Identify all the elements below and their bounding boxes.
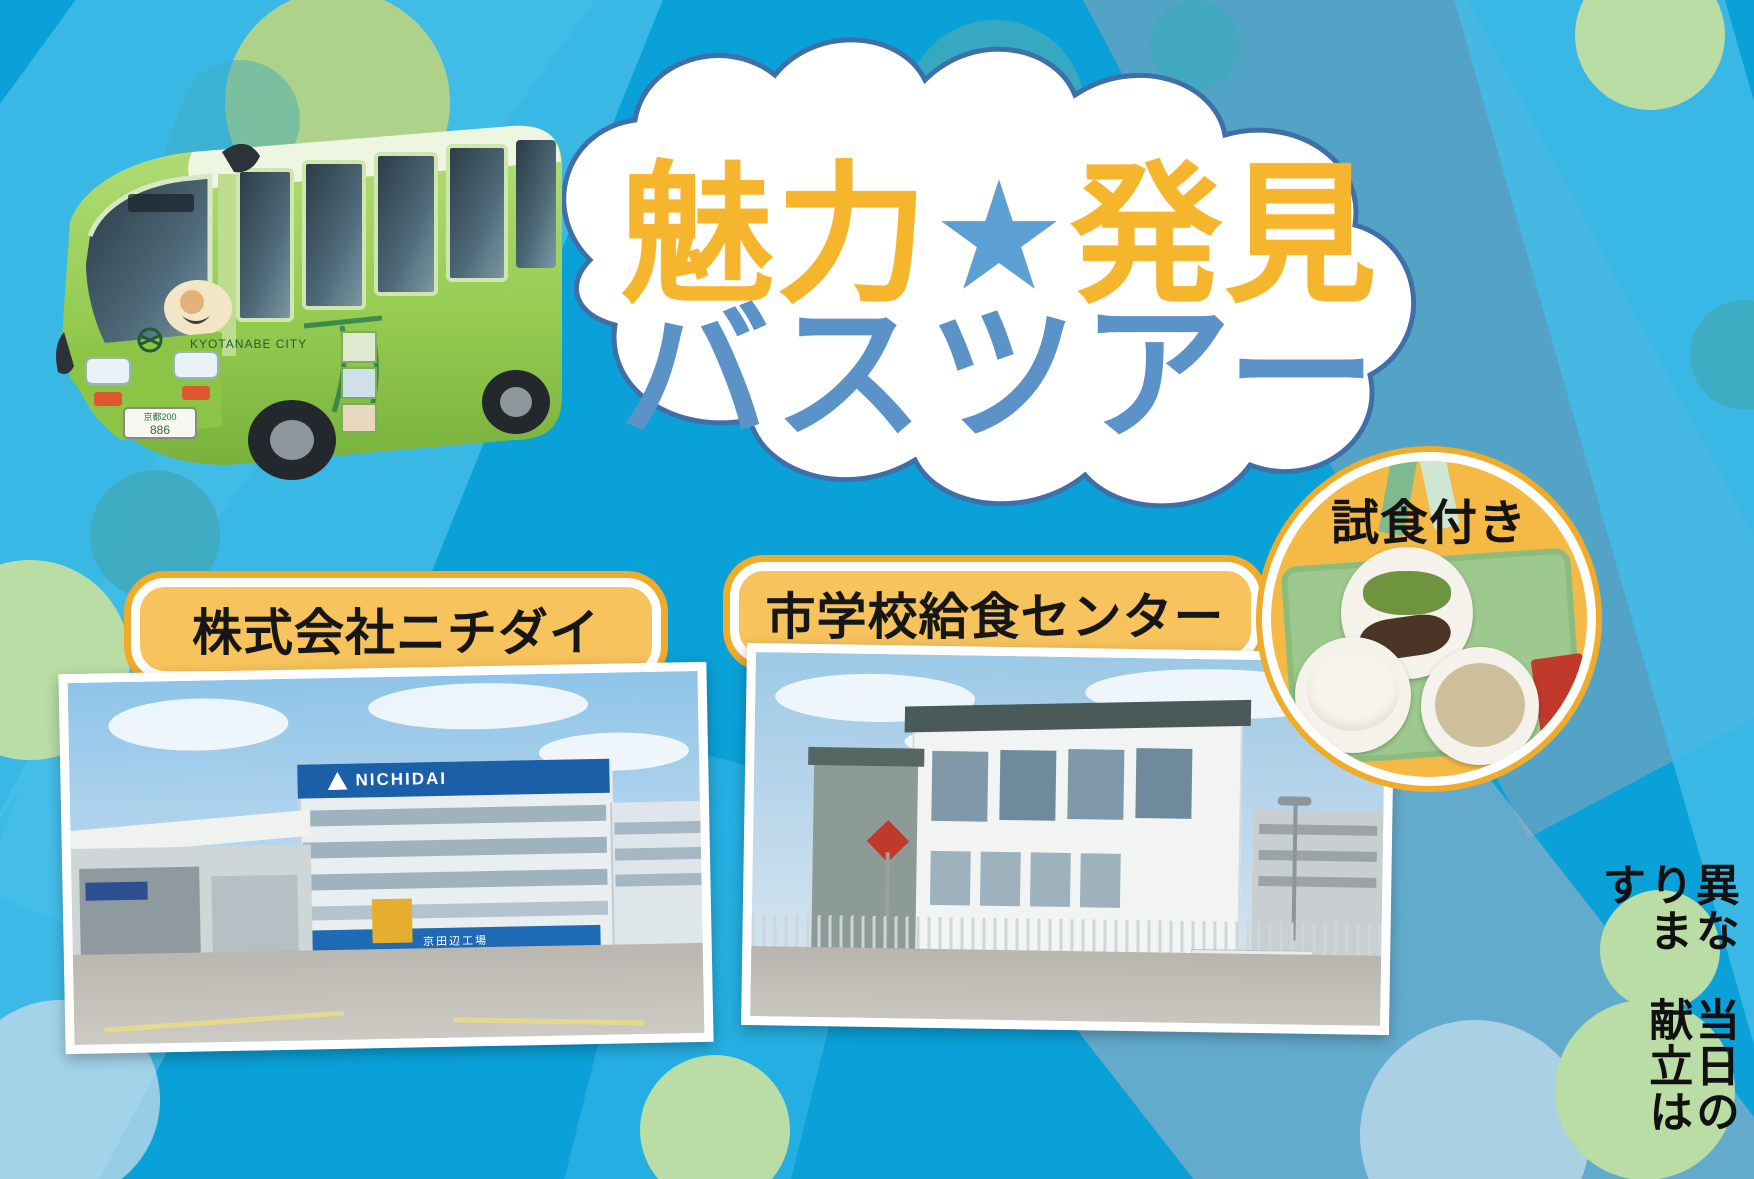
soup	[1435, 663, 1525, 747]
window-band	[1259, 850, 1377, 862]
factory-sign-band: NICHIDAI	[297, 759, 610, 799]
window-band	[615, 847, 705, 861]
dish-soup	[1421, 647, 1539, 765]
window	[931, 751, 988, 822]
caution-column-right: 当日の献立は	[1596, 997, 1736, 1152]
svg-text:886: 886	[150, 423, 170, 437]
window-band	[614, 821, 704, 835]
door	[372, 899, 413, 944]
photo-nichidai-image: NICHIDAI 京田辺工場	[68, 671, 705, 1045]
warehouse-sign	[85, 882, 147, 901]
badge-label: 試食付き	[1271, 483, 1587, 553]
window	[1067, 749, 1124, 820]
photo-nichidai-factory: NICHIDAI 京田辺工場	[58, 662, 713, 1054]
window	[980, 852, 1021, 907]
milk-carton	[1531, 653, 1594, 745]
badge-tasting-included: 試食付き	[1262, 452, 1596, 786]
window	[999, 750, 1056, 821]
poster-canvas: 魅力★発見 バスツアー	[0, 0, 1754, 1179]
left-wing-roof	[808, 747, 924, 767]
window	[930, 851, 971, 906]
street-lamp-head	[1278, 796, 1312, 806]
window-band	[615, 873, 704, 887]
stir-fried-vegetables	[1363, 571, 1451, 615]
dish-rice	[1295, 637, 1411, 753]
bus-photo: 京都200 886 KYOTANABE CITY	[42, 96, 582, 486]
window	[1135, 748, 1192, 819]
ground	[73, 943, 705, 1045]
svg-text:KYOTANABE CITY: KYOTANABE CITY	[190, 337, 307, 351]
nichidai-logo-icon	[327, 772, 347, 790]
factory-sign-text: NICHIDAI	[355, 769, 447, 791]
svg-text:京都200: 京都200	[143, 412, 176, 422]
window	[1030, 852, 1071, 907]
window-band	[1258, 876, 1376, 888]
caution-column-left: 異なります	[1596, 862, 1736, 991]
title-cloud-shape	[470, 20, 1530, 520]
window	[1080, 853, 1121, 908]
ground	[750, 946, 1381, 1026]
rice	[1307, 651, 1399, 731]
window-band	[1259, 824, 1377, 836]
caution-note: 当日の献立は 異なります	[1596, 862, 1736, 1152]
